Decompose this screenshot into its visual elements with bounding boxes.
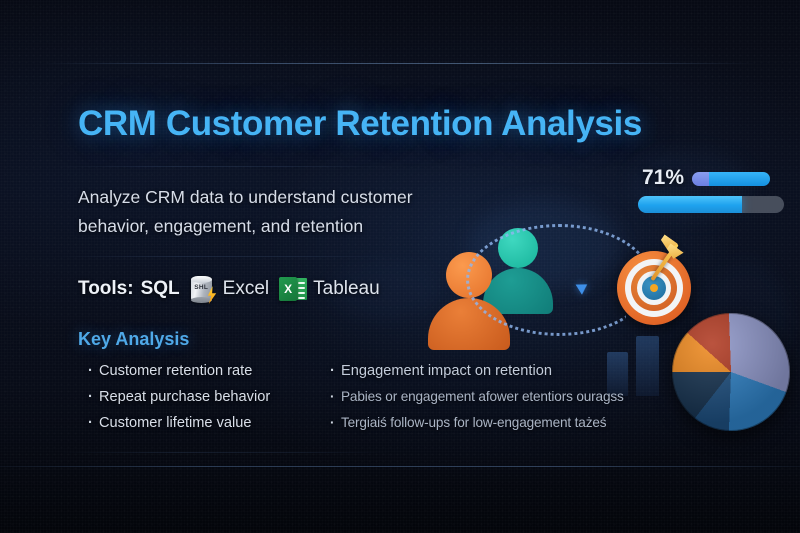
section-divider bbox=[60, 256, 390, 257]
subtitle-line-1: Analyze CRM data to understand customer bbox=[78, 183, 413, 212]
list-item: Customer lifetime value bbox=[88, 410, 270, 436]
retention-pie-chart bbox=[672, 313, 790, 431]
top-divider bbox=[42, 63, 758, 64]
tool-label-tableau: Tableau bbox=[313, 278, 380, 300]
presentation-slide: CRM Customer Retention Analysis Analyze … bbox=[0, 0, 800, 533]
page-title: CRM Customer Retention Analysis bbox=[78, 104, 642, 144]
progress-fill bbox=[638, 196, 742, 213]
retention-progress-bar bbox=[638, 196, 784, 213]
background-bar bbox=[636, 336, 659, 396]
list-item: Tergiaiś follow-ups for low-engagement t… bbox=[330, 410, 624, 436]
list-item: Repeat purchase behavior bbox=[88, 384, 270, 410]
list-item: Customer retention rate bbox=[88, 358, 270, 384]
secondary-progress-bar bbox=[692, 172, 770, 186]
excel-icon: X bbox=[279, 277, 307, 301]
tools-label: Tools: bbox=[78, 278, 134, 300]
section-divider bbox=[60, 452, 390, 453]
subtitle: Analyze CRM data to understand customer … bbox=[78, 183, 413, 241]
key-analysis-left-list: Customer retention rate Repeat purchase … bbox=[88, 358, 270, 436]
key-analysis-right-list: Engagement impact on retention Pabies or… bbox=[330, 358, 624, 436]
tool-label-excel: Excel bbox=[223, 278, 269, 300]
key-analysis-heading: Key Analysis bbox=[78, 329, 189, 350]
list-item: Engagement impact on retention bbox=[330, 358, 624, 384]
section-divider bbox=[60, 166, 390, 167]
sql-database-icon: SHL bbox=[189, 274, 217, 304]
subtitle-line-2: behavior, engagement, and retention bbox=[78, 212, 413, 241]
tool-label-sql: SQL bbox=[141, 278, 180, 300]
list-item: Pabies or engagement afower etentiors ou… bbox=[330, 384, 624, 410]
percent-label: 71% bbox=[642, 166, 684, 190]
tools-row: Tools: SQL SHL Excel X Tableau bbox=[78, 274, 380, 304]
target-bullseye-icon bbox=[617, 251, 691, 325]
bottom-divider bbox=[0, 466, 800, 467]
